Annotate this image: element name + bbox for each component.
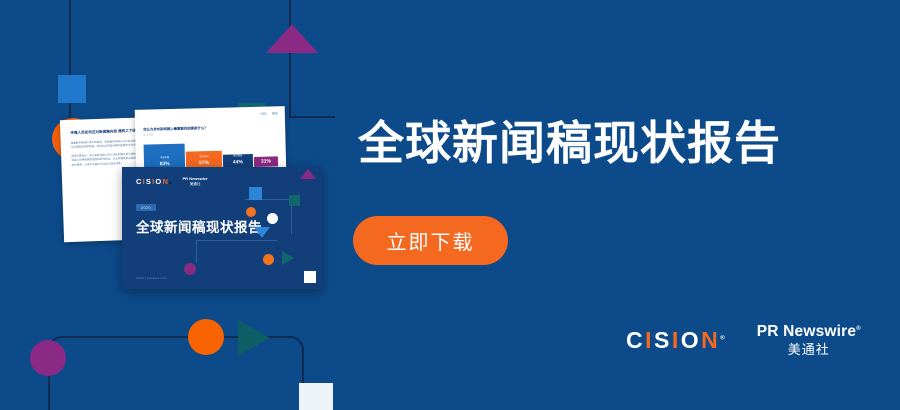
card-deco-circle-purple <box>184 263 196 275</box>
prnewswire-wordmark: PR Newswire® <box>757 323 861 342</box>
deco-triangle-purple <box>266 24 318 53</box>
deco-horizontal-line-top <box>289 116 335 118</box>
deco-triangle-teal <box>238 320 270 356</box>
chart-bar-category: 多媒体素材 <box>260 155 272 158</box>
registered-mark-icon: ® <box>169 181 172 185</box>
chart-bar-value: 31% <box>261 159 271 165</box>
card-deco-square-blue <box>249 187 262 200</box>
promo-banner: 传播人员如何应对新闻稿内容 建构之下困境 随着数字媒体环境不断演进，新闻稿的传播… <box>0 0 900 410</box>
cision-letter: O <box>681 327 701 353</box>
cision-logo: CISION® <box>626 327 725 354</box>
prnewswire-chinese: 美通社 <box>757 342 861 358</box>
chart-bar-category: 发布时机 <box>199 156 208 159</box>
download-button[interactable]: 立即下载 <box>353 216 508 265</box>
mockup-blue-cover: CISION® PR Newswire 美通社 2020 全球新闻稿现状报告 2… <box>122 167 322 289</box>
chart-page-corner-label: 报告 <box>272 111 278 115</box>
registered-mark-icon: ® <box>856 326 861 332</box>
deco-circle-orange-bottom <box>188 319 224 355</box>
deco-circle-purple <box>30 340 66 376</box>
card-deco-circle-white <box>267 213 278 224</box>
card-cision-logo: CISION® <box>136 177 173 186</box>
chart-bar: 发布时机57% <box>186 151 222 169</box>
cision-letter: S <box>654 327 672 353</box>
card-title: 全球新闻稿现状报告 <box>122 216 322 236</box>
logo-group: CISION® PR Newswire® 美通社 <box>626 323 861 357</box>
page-title: 全球新闻稿现状报告 <box>358 119 781 167</box>
cision-letter: I <box>672 327 681 353</box>
card-deco-circle-orange-2 <box>263 254 274 265</box>
chart-bar: 内容质量83% <box>144 144 186 170</box>
chart-bar-value: 44% <box>233 159 243 165</box>
cision-letter: I <box>645 327 654 353</box>
chart-bar-category: 媒体覆盖 <box>233 155 242 158</box>
prnewswire-logo: PR Newswire® 美通社 <box>757 323 861 357</box>
chart-bar-category: 内容质量 <box>160 157 169 160</box>
chart-bar-value: 57% <box>199 160 209 166</box>
card-year-badge: 2020 <box>136 204 156 211</box>
deco-square-white <box>299 383 333 410</box>
card-prnewswire-logo: PR Newswire 美通社 <box>183 177 208 186</box>
chart-page-corner-label: 2020 <box>260 112 267 116</box>
card-deco-triangle-right <box>282 251 294 265</box>
cision-letter: C <box>136 177 143 186</box>
deco-vertical-line-right <box>289 0 291 118</box>
card-deco-square-white <box>304 271 316 283</box>
prnewswire-line1: PR Newswire <box>757 323 857 340</box>
cision-letter: N <box>701 327 720 353</box>
registered-mark-icon: ® <box>720 335 724 341</box>
card-prnewswire-line2: 美通社 <box>183 182 208 186</box>
cision-letter: C <box>626 327 645 353</box>
card-deco-triangle-purple <box>300 169 316 179</box>
card-footer: 2020 | prnasia.com <box>136 276 167 280</box>
chart-bar: 多媒体素材31% <box>254 156 278 167</box>
deco-square-lightblue <box>58 75 86 103</box>
card-deco-triangle-down <box>254 227 270 238</box>
chart-bar: 媒体覆盖44% <box>223 154 253 168</box>
bar-chart: 内容质量83%发布时机57%媒体覆盖44%多媒体素材31% <box>135 136 286 170</box>
card-deco-square-teal <box>289 195 300 206</box>
card-deco-circle-orange <box>246 207 256 217</box>
